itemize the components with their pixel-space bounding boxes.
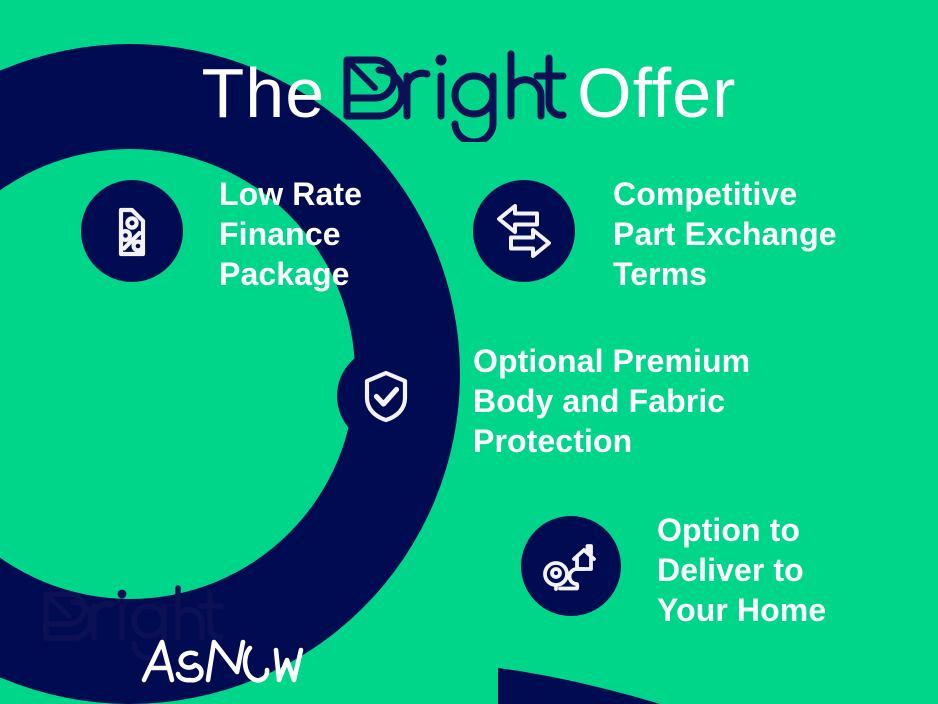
brand-logo-bright-as-new xyxy=(38,580,308,690)
feature-label: Competitive Part Exchange Terms xyxy=(613,172,837,294)
feature-item-home-delivery: Option to Deliver to Your Home xyxy=(521,516,826,630)
feature-item-body-fabric-protection: Optional Premium Body and Fabric Protect… xyxy=(337,347,750,461)
headline-suffix: Offer xyxy=(577,58,736,128)
feature-item-part-exchange: Competitive Part Exchange Terms xyxy=(473,180,837,294)
page-title: The xyxy=(0,42,938,143)
navy-wedge-shape xyxy=(498,668,660,704)
brand-logo-secondary xyxy=(144,642,301,680)
shield-check-icon xyxy=(337,347,435,445)
headline-prefix: The xyxy=(202,58,326,128)
brand-logo-i-dot xyxy=(118,590,127,599)
feature-label: Optional Premium Body and Fabric Protect… xyxy=(473,339,750,461)
feature-label: Option to Deliver to Your Home xyxy=(657,508,826,630)
bright-wordmark xyxy=(335,46,567,147)
offer-poster: The xyxy=(0,0,938,704)
brand-logo-primary xyxy=(46,588,221,658)
delivery-route-home-icon xyxy=(521,516,621,616)
feature-label: Low Rate Finance Package xyxy=(219,172,362,294)
price-tag-percent-icon xyxy=(81,180,183,282)
exchange-arrows-icon xyxy=(473,180,575,282)
feature-item-low-rate-finance: Low Rate Finance Package xyxy=(81,180,362,294)
